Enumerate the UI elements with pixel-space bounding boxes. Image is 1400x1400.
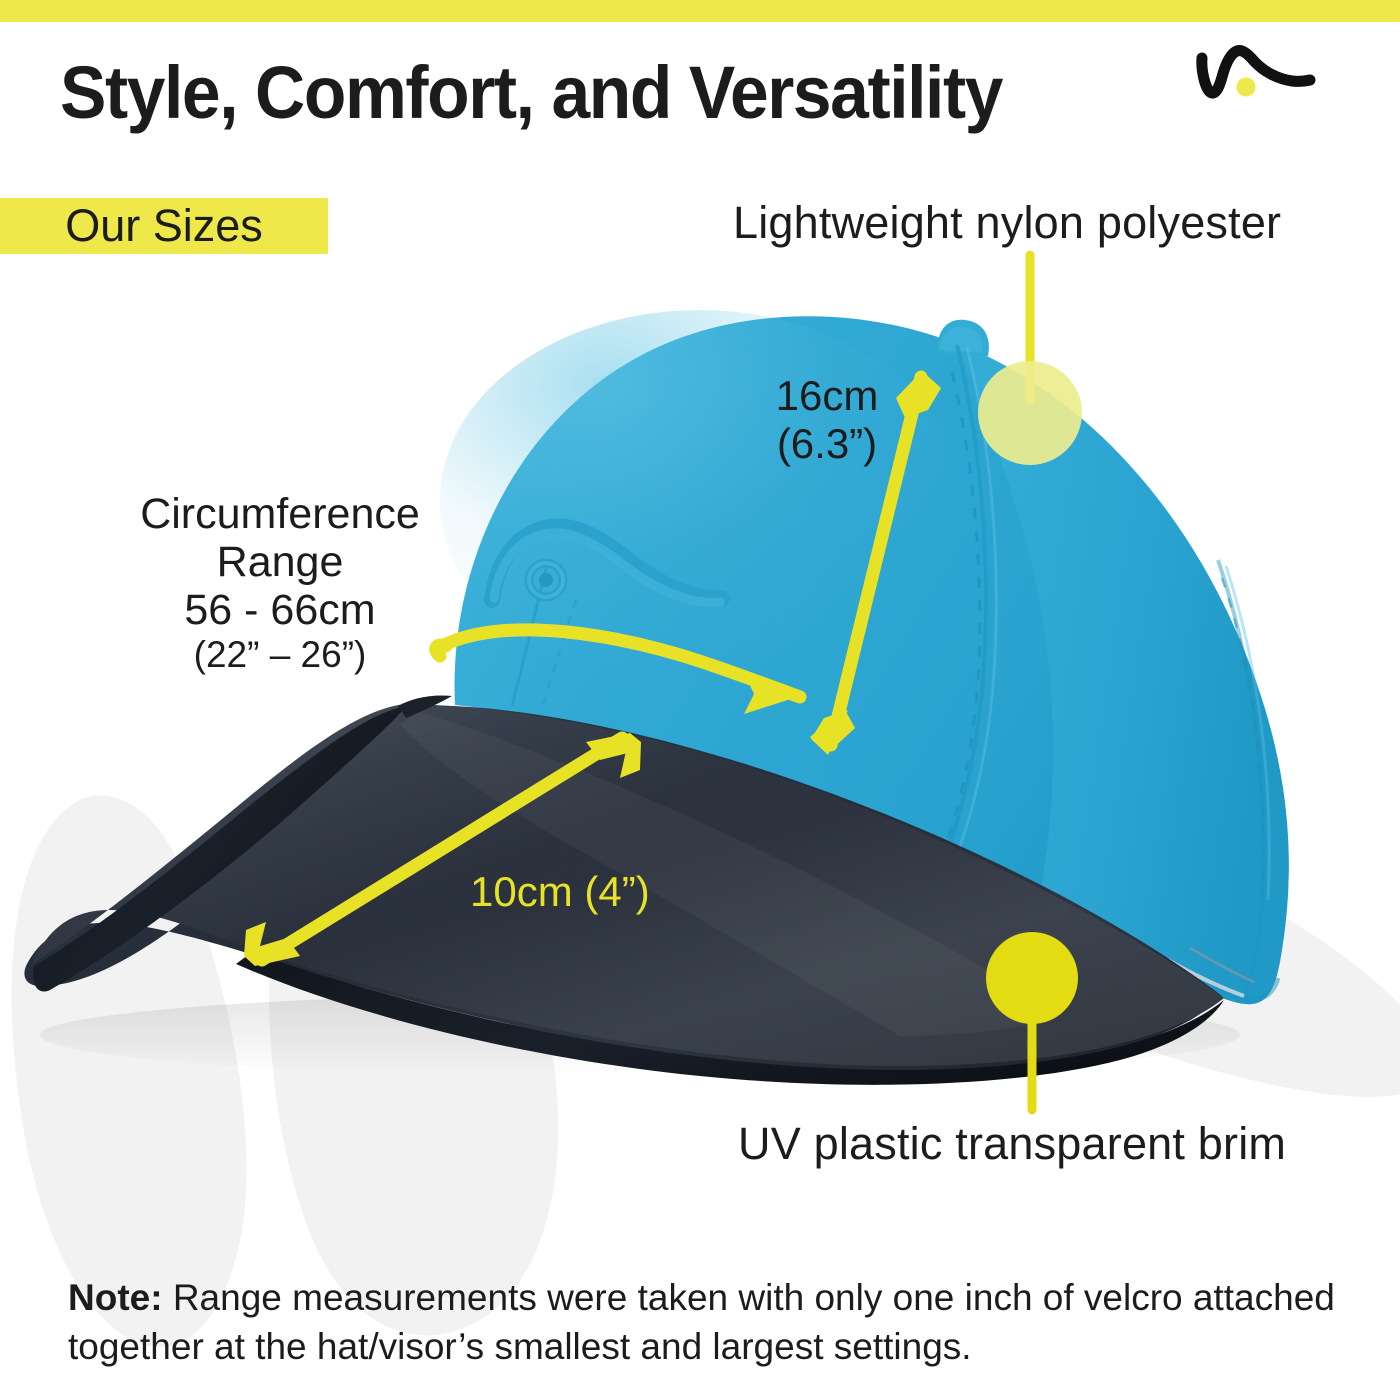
crown-height-value: 16cm [762,372,892,420]
callout-marker-nylon [978,255,1082,465]
circumference-line-2: Range [120,538,440,586]
note-body: Range measurements were taken with only … [68,1277,1335,1367]
logo-dot [1237,78,1256,97]
circumference-line-1: Circumference [120,490,440,538]
background-watermark-logo [0,790,1400,1350]
measurement-brim-depth: 10cm (4”) [470,868,650,916]
measurement-circumference: Circumference Range 56 - 66cm (22” – 26”… [120,490,440,676]
brand-swoosh-logo [1188,36,1338,116]
crown-height-value-inches: (6.3”) [762,420,892,468]
callout-label-nylon: Lightweight nylon polyester [733,197,1281,249]
footer-note: Note: Range measurements were taken with… [68,1274,1338,1372]
embroidered-swoosh-detail [492,526,722,602]
callout-label-uv-brim: UV plastic transparent brim [738,1118,1286,1170]
our-sizes-label: Our Sizes [0,198,328,254]
circumference-value: 56 - 66cm [120,586,440,634]
circumference-value-inches: (22” – 26”) [120,634,440,675]
top-accent-bar [0,0,1400,22]
note-prefix: Note: [68,1277,163,1318]
page-title: Style, Comfort, and Versatility [60,50,1002,135]
infographic-page: Style, Comfort, and Versatility Our Size… [0,0,1400,1400]
callout-marker-uvbrim [986,932,1078,1110]
measurement-crown-height: 16cm (6.3”) [762,372,892,469]
